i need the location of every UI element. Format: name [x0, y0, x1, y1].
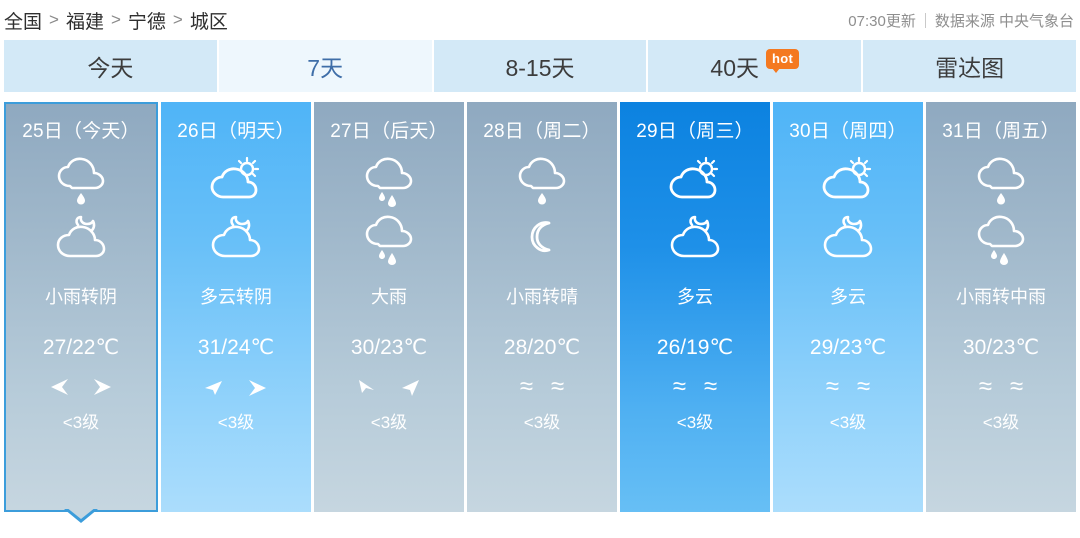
tab-label: 8-15天: [505, 49, 574, 83]
forecast-day-card[interactable]: 28日（周二） 小雨转晴 28/20℃ ≈ ≈ <3级: [467, 102, 617, 512]
tab-8-15days[interactable]: 8-15天: [434, 40, 647, 92]
temperature-range: 30/23℃: [351, 335, 427, 360]
day-label: 25日（今天）: [22, 116, 140, 143]
wind-direction-icons: ≈ ≈: [673, 374, 717, 400]
breadcrumb: 全国 > 福建 > 宁德 > 城区: [4, 7, 228, 34]
breeze-icon: ≈: [1010, 375, 1023, 399]
day-label: 29日（周三）: [636, 116, 754, 143]
weather-condition: 大雨: [371, 283, 407, 309]
temperature-range: 30/23℃: [963, 335, 1039, 360]
weather-icons: [205, 155, 267, 265]
breadcrumb-item-district[interactable]: 城区: [190, 7, 228, 34]
rain-cloud-heavy-icon: [358, 155, 420, 207]
rain-cloud-heavy-icon: [358, 213, 420, 265]
tab-radar-map[interactable]: 雷达图: [863, 40, 1076, 92]
selected-day-pointer-inner: [66, 507, 96, 519]
rain-cloud-icon: [970, 155, 1032, 207]
breeze-icon: ≈: [673, 375, 686, 399]
breadcrumb-item-province[interactable]: 福建: [66, 7, 104, 34]
day-label: 28日（周二）: [483, 116, 601, 143]
arrow-upleft-icon: [201, 376, 227, 398]
breeze-icon: ≈: [857, 375, 870, 399]
tab-label: 今天: [87, 49, 133, 83]
wind-direction-icons: [46, 374, 116, 400]
sun-cloud-icon: [205, 155, 267, 207]
breeze-icon: ≈: [551, 375, 564, 399]
data-source: 数据来源 中央气象台: [935, 10, 1074, 31]
temperature-range: 27/22℃: [43, 335, 119, 360]
forecast-day-card[interactable]: 31日（周五） 小雨转中雨 30/23℃ ≈ ≈ <3级: [926, 102, 1076, 512]
weather-icons: [358, 155, 420, 265]
day-label: 27日（后天）: [330, 116, 448, 143]
wind-direction-icons: ≈ ≈: [979, 374, 1023, 400]
arrow-right-icon: [245, 376, 271, 398]
rain-cloud-icon: [50, 155, 112, 207]
tab-label: 7天: [307, 49, 343, 83]
wind-level: <3级: [371, 408, 407, 433]
meta-divider: [925, 13, 926, 28]
weather-condition: 小雨转中雨: [956, 283, 1046, 309]
seven-day-forecast: 25日（今天） 小雨转阴 27/22℃: [4, 102, 1076, 512]
breeze-icon: ≈: [826, 375, 839, 399]
breadcrumb-item-city[interactable]: 宁德: [128, 7, 166, 34]
weather-icons: [817, 155, 879, 265]
wind-level: <3级: [983, 408, 1019, 433]
page-header: 全国 > 福建 > 宁德 > 城区 07:30更新 数据来源 中央气象台: [0, 0, 1080, 40]
breeze-icon: ≈: [979, 375, 992, 399]
overcast-cloud-icon: [50, 213, 112, 265]
temperature-range: 31/24℃: [198, 335, 274, 360]
forecast-day-card[interactable]: 30日（周四）: [773, 102, 923, 512]
tab-label: 40天: [710, 49, 759, 83]
wind-level: <3级: [524, 408, 560, 433]
sun-cloud-icon: [664, 155, 726, 207]
header-meta: 07:30更新 数据来源 中央气象台: [848, 10, 1074, 31]
arrow-downleft-icon: [354, 376, 380, 398]
day-label: 31日（周五）: [942, 116, 1060, 143]
temperature-range: 26/19℃: [657, 335, 733, 360]
weather-condition: 小雨转阴: [45, 283, 117, 309]
day-label: 26日（明天）: [177, 116, 295, 143]
weather-condition: 多云: [830, 283, 866, 309]
breadcrumb-separator: >: [49, 10, 59, 30]
day-label: 30日（周四）: [789, 116, 907, 143]
rain-cloud-icon: [511, 155, 573, 207]
forecast-day-card[interactable]: 26日（明天）: [161, 102, 311, 512]
sun-cloud-icon: [817, 155, 879, 207]
arrow-left-icon: [46, 376, 72, 398]
weather-condition: 小雨转晴: [506, 283, 578, 309]
tab-today[interactable]: 今天: [4, 40, 217, 92]
moon-icon: [511, 213, 573, 265]
rain-cloud-heavy-icon: [970, 213, 1032, 265]
weather-icons: [511, 155, 573, 265]
tab-label: 雷达图: [935, 49, 1004, 83]
temperature-range: 29/23℃: [810, 335, 886, 360]
tab-40days[interactable]: 40天 hot: [648, 40, 861, 92]
weather-condition: 多云转阴: [200, 283, 272, 309]
forecast-day-card[interactable]: 29日（周三）: [620, 102, 770, 512]
wind-level: <3级: [830, 408, 866, 433]
weather-icons: [50, 155, 112, 265]
hot-badge-icon: hot: [766, 49, 799, 69]
breeze-icon: ≈: [704, 375, 717, 399]
wind-level: <3级: [218, 408, 254, 433]
moon-cloud-icon: [817, 213, 879, 265]
forecast-range-tabs: 今天 7天 8-15天 40天 hot 雷达图: [4, 40, 1076, 92]
wind-direction-icons: ≈ ≈: [826, 374, 870, 400]
arrow-right-icon: [90, 376, 116, 398]
wind-direction-icons: [201, 374, 271, 400]
breadcrumb-separator: >: [111, 10, 121, 30]
update-time: 07:30更新: [848, 10, 916, 31]
breeze-icon: ≈: [520, 375, 533, 399]
arrow-upright-icon: [398, 376, 424, 398]
weather-icons: [664, 155, 726, 265]
weather-icons: [970, 155, 1032, 265]
forecast-day-card[interactable]: 25日（今天） 小雨转阴 27/22℃: [4, 102, 158, 512]
moon-cloud-icon: [664, 213, 726, 265]
tab-7days[interactable]: 7天: [219, 40, 432, 92]
moon-cloud-icon: [205, 213, 267, 265]
forecast-day-card[interactable]: 27日（后天） 大雨 30/23℃: [314, 102, 464, 512]
wind-level: <3级: [677, 408, 713, 433]
temperature-range: 28/20℃: [504, 335, 580, 360]
wind-level: <3级: [63, 408, 99, 433]
wind-direction-icons: ≈ ≈: [520, 374, 564, 400]
weather-condition: 多云: [677, 283, 713, 309]
breadcrumb-item-country[interactable]: 全国: [4, 7, 42, 34]
wind-direction-icons: [354, 374, 424, 400]
breadcrumb-separator: >: [173, 10, 183, 30]
